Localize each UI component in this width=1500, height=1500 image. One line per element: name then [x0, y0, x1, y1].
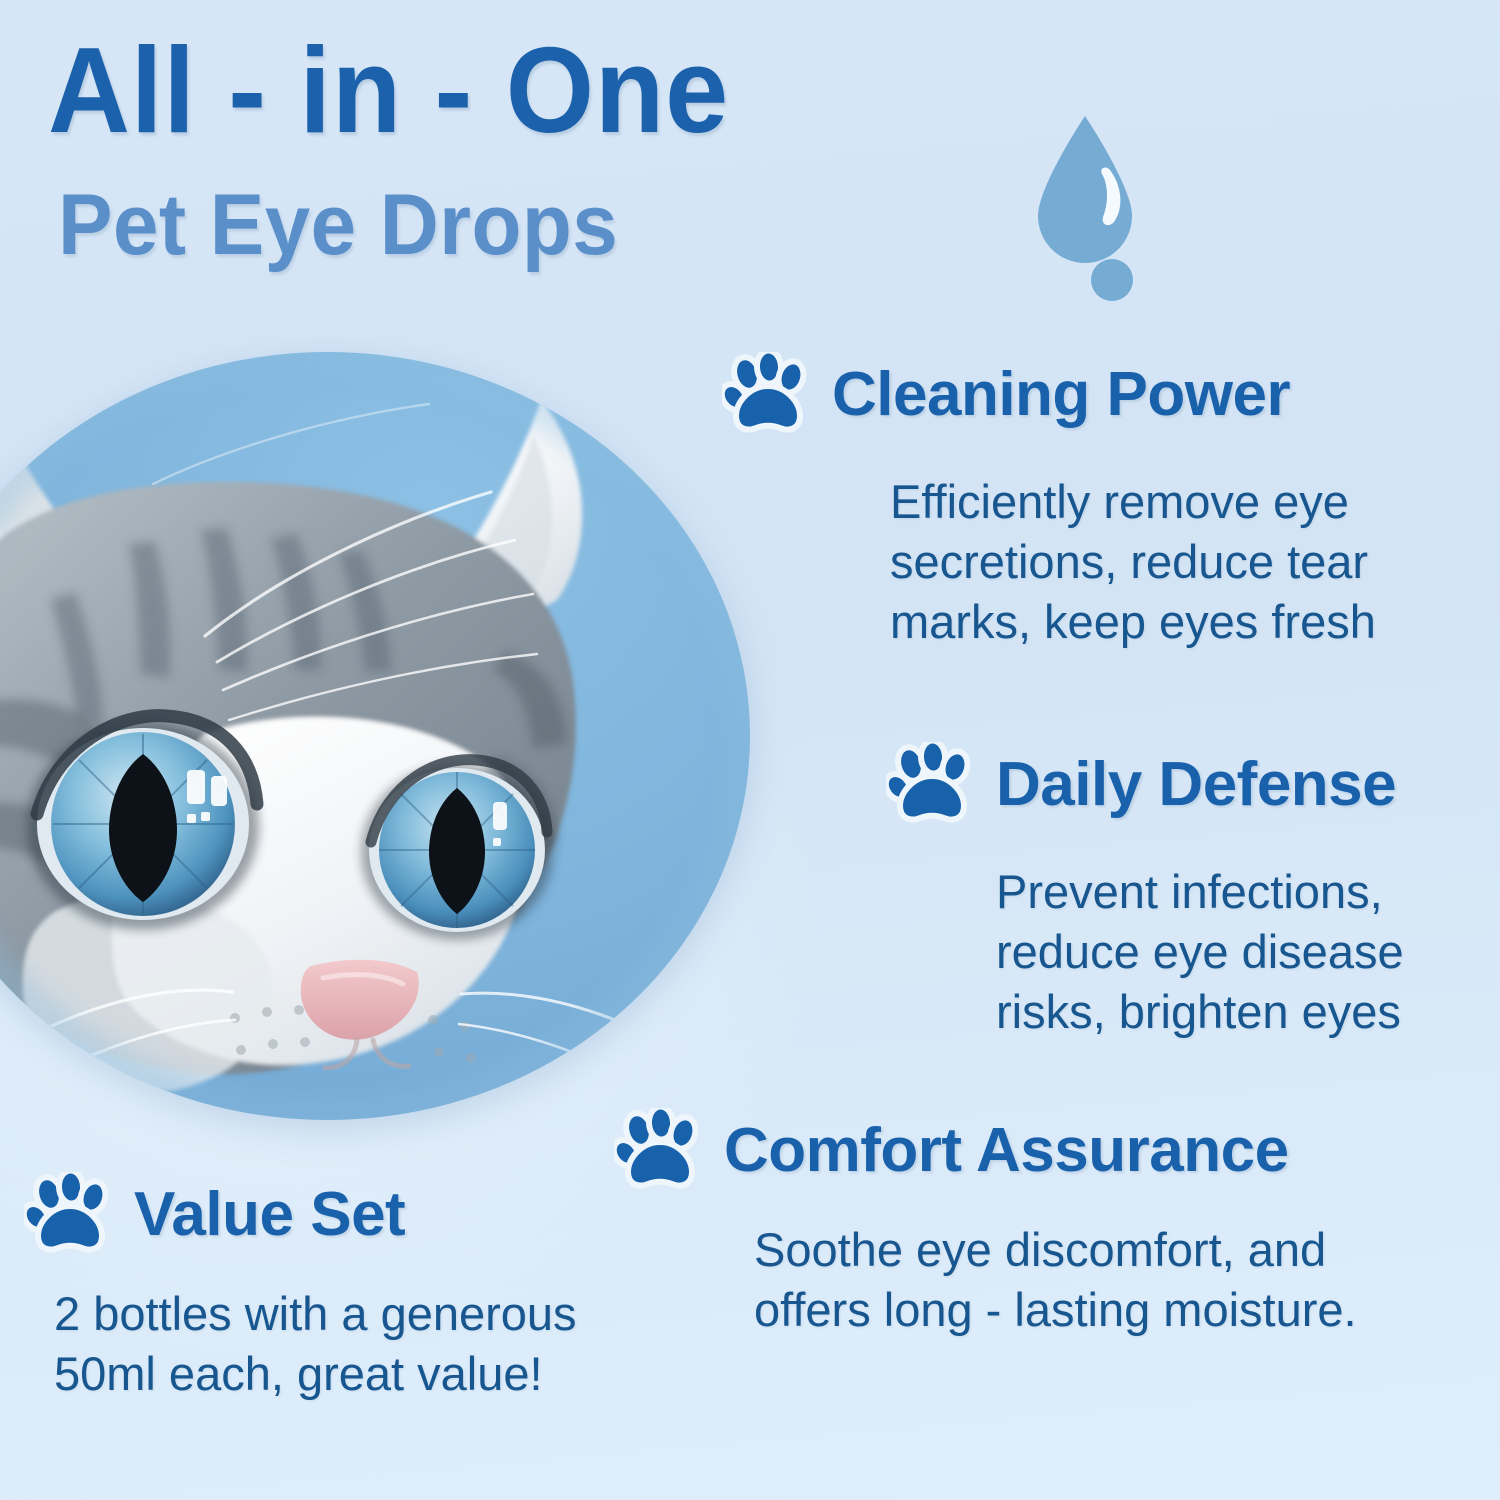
feature-title: Value Set: [134, 1184, 405, 1246]
paw-icon: [722, 352, 814, 438]
feature-description: Prevent infections, reduce eye disease r…: [996, 862, 1404, 1042]
feature-heading-row: Comfort Assurance: [614, 1108, 1357, 1194]
feature-description: 2 bottles with a generous 50ml each, gre…: [54, 1284, 577, 1404]
feature-value-set: Value Set 2 bottles with a generous 50ml…: [24, 1172, 577, 1404]
feature-comfort-assurance: Comfort Assurance Soothe eye discomfort,…: [614, 1108, 1357, 1340]
feature-daily-defense: Daily Defense Prevent infections, reduce…: [886, 742, 1404, 1042]
feature-title: Daily Defense: [996, 754, 1396, 816]
product-infographic: All - in - One Pet Eye Drops: [0, 0, 1500, 1500]
page-subtitle: Pet Eye Drops: [58, 182, 618, 268]
paw-icon: [24, 1172, 116, 1258]
paw-icon: [886, 742, 978, 828]
feature-heading-row: Cleaning Power: [722, 352, 1376, 438]
paw-icon: [614, 1108, 706, 1194]
feature-heading-row: Value Set: [24, 1172, 577, 1258]
feature-title: Comfort Assurance: [724, 1120, 1289, 1182]
feature-title: Cleaning Power: [832, 364, 1290, 426]
feature-description: Efficiently remove eye secretions, reduc…: [890, 472, 1376, 652]
feature-heading-row: Daily Defense: [886, 742, 1404, 828]
feature-cleaning-power: Cleaning Power Efficiently remove eye se…: [722, 352, 1376, 652]
water-droplet-icon: [1030, 112, 1140, 302]
page-title: All - in - One: [48, 28, 729, 152]
feature-description: Soothe eye discomfort, and offers long -…: [754, 1220, 1357, 1340]
